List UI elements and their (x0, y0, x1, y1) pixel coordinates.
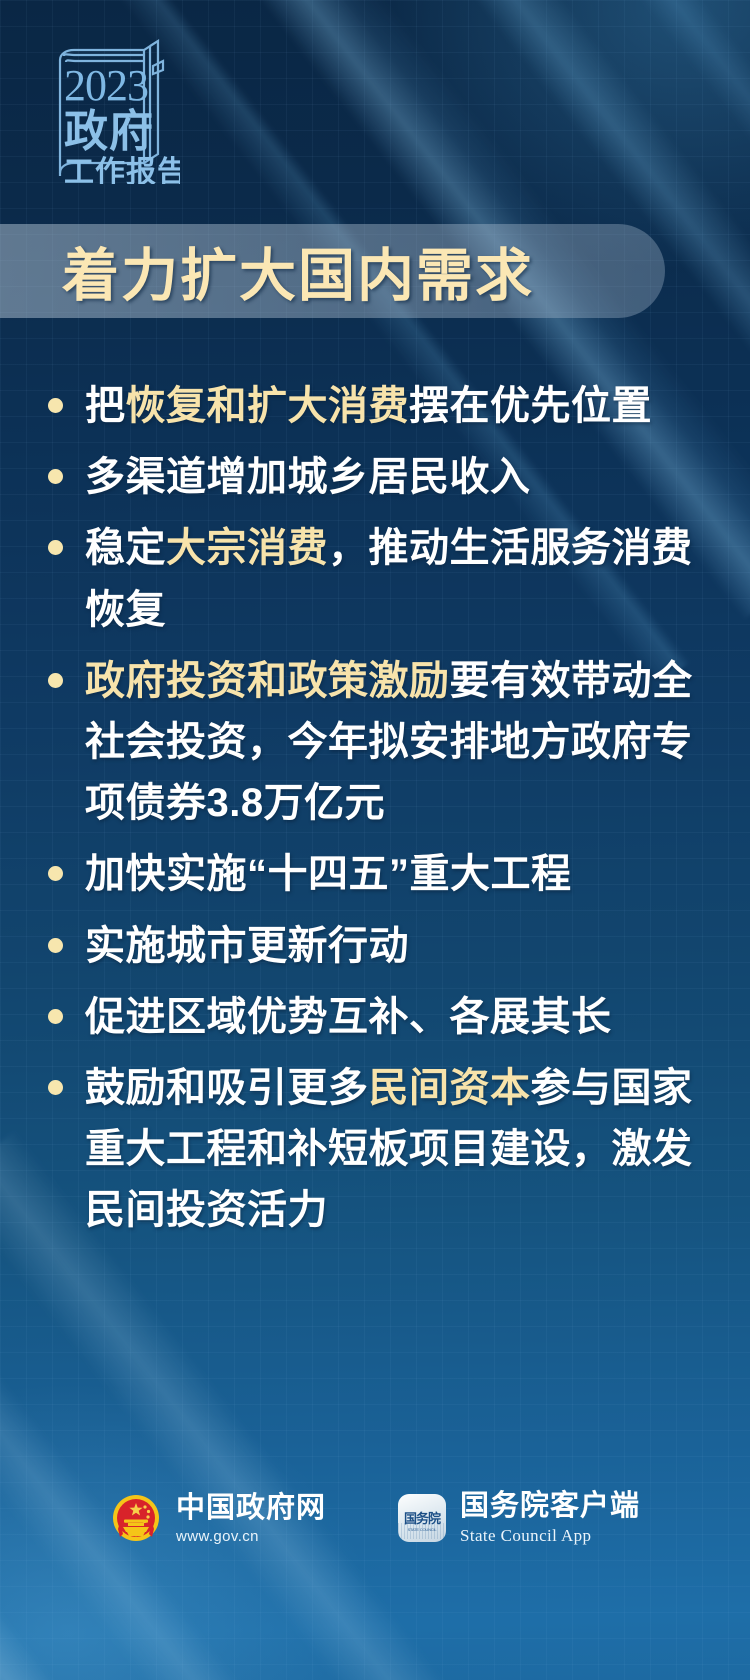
bullet-dot-icon (48, 469, 63, 484)
brand-line2: 工作报告 (64, 156, 180, 184)
bullet-item-text: 政府投资和政策激励要有效带动全社会投资，今年拟安排地方政府专项债券3.8万亿元 (85, 651, 718, 835)
bullet-dot-icon (48, 540, 63, 555)
bullet-dot-icon (48, 1009, 63, 1024)
bullet-plain-text: 多渠道增加城乡居民收入 (85, 455, 531, 499)
footer-state-council[interactable]: 国务院 STATE COUNCIL 国务院客户端 State Council A… (398, 1490, 640, 1546)
bullet-highlight-text: 政府投资和政策激励 (85, 659, 450, 703)
bullet-dot-icon (48, 673, 63, 688)
bullet-plain-text: 促进区域优势互补、各展其长 (85, 995, 612, 1039)
bullet-dot-icon (48, 866, 63, 881)
bullet-item-text: 实施城市更新行动 (85, 916, 718, 977)
brand-year: 2023 (64, 61, 148, 110)
bullet-plain-text: 把 (85, 384, 126, 428)
footer-gov-site-name: 中国政府网 (176, 1492, 326, 1524)
bullet-dot-icon (48, 398, 63, 413)
bullet-highlight-text: 恢复和扩大消费 (126, 384, 410, 428)
bullet-dot-icon (48, 1080, 63, 1095)
bullet-item-text: 鼓励和吸引更多民间资本参与国家重大工程和补短板项目建设，激发民间投资活力 (85, 1058, 718, 1242)
bullet-highlight-text: 民间资本 (369, 1066, 531, 1110)
bullet-item: 鼓励和吸引更多民间资本参与国家重大工程和补短板项目建设，激发民间投资活力 (36, 1058, 718, 1242)
bullet-item-text: 促进区域优势互补、各展其长 (85, 987, 718, 1048)
national-emblem-icon (110, 1492, 162, 1544)
bullet-item: 多渠道增加城乡居民收入 (36, 447, 718, 508)
bullet-item: 加快实施“十四五”重大工程 (36, 844, 718, 905)
bullet-dot-icon (48, 938, 63, 953)
brand-line1: 政府 (64, 107, 154, 156)
bullet-item: 促进区域优势互补、各展其长 (36, 987, 718, 1048)
bullet-plain-text: 稳定 (85, 526, 166, 570)
bullet-highlight-text: 大宗消费 (166, 526, 328, 570)
bullet-item-text: 加快实施“十四五”重大工程 (85, 844, 718, 905)
bullet-item-text: 稳定大宗消费，推动生活服务消费恢复 (85, 518, 718, 640)
bullet-item: 把恢复和扩大消费摆在优先位置 (36, 376, 718, 437)
brand-logo: 2023 政府 工作报告 (40, 36, 180, 184)
book-icon: 2023 政府 工作报告 (40, 36, 180, 184)
state-council-app-icon: 国务院 STATE COUNCIL (398, 1494, 446, 1542)
page-title: 着力扩大国内需求 (62, 230, 534, 312)
bullet-plain-text: 鼓励和吸引更多 (85, 1066, 369, 1110)
bullet-item: 稳定大宗消费，推动生活服务消费恢复 (36, 518, 718, 640)
bullet-item: 政府投资和政策激励要有效带动全社会投资，今年拟安排地方政府专项债券3.8万亿元 (36, 651, 718, 835)
bullet-plain-text: 摆在优先位置 (409, 384, 652, 428)
footer-state-council-name: 国务院客户端 (460, 1490, 640, 1522)
poster-root: 2023 政府 工作报告 着力扩大国内需求 把恢复和扩大消费摆在优先位置多渠道增… (0, 0, 750, 1680)
bullet-item-text: 多渠道增加城乡居民收入 (85, 447, 718, 508)
bullet-plain-text: 加快实施“十四五”重大工程 (85, 852, 572, 896)
footer-state-council-en: State Council App (460, 1526, 640, 1546)
bullet-item-text: 把恢复和扩大消费摆在优先位置 (85, 376, 718, 437)
bullet-list: 把恢复和扩大消费摆在优先位置多渠道增加城乡居民收入稳定大宗消费，推动生活服务消费… (36, 376, 718, 1251)
footer-gov-site[interactable]: 中国政府网 www.gov.cn (110, 1492, 326, 1545)
bullet-item: 实施城市更新行动 (36, 916, 718, 977)
app-icon-building-glyph (398, 1523, 446, 1539)
page-title-banner: 着力扩大国内需求 (0, 224, 665, 318)
bullet-plain-text: 实施城市更新行动 (85, 924, 409, 968)
footer-gov-site-url: www.gov.cn (176, 1528, 326, 1545)
footer: 中国政府网 www.gov.cn 国务院 STATE COUNCIL 国务院客户… (0, 1490, 750, 1546)
